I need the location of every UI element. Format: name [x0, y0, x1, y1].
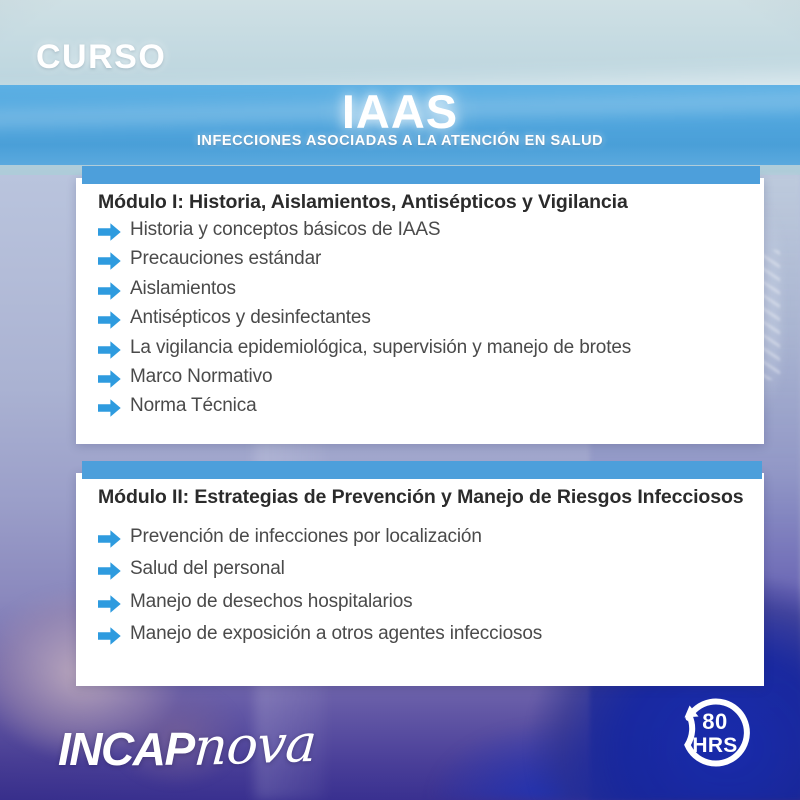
duration-badge: 80 HRS	[676, 694, 754, 772]
topic-item: La vigilancia epidemiológica, supervisió…	[98, 337, 746, 359]
arrow-right-icon	[98, 627, 121, 645]
topic-label: Manejo de desechos hospitalarios	[130, 591, 413, 613]
module-card: Módulo I: Historia, Aislamientos, Antisé…	[76, 178, 764, 444]
course-full-title: INFECCIONES ASOCIADAS A LA ATENCIÓN EN S…	[197, 133, 603, 149]
topic-label: Norma Técnica	[130, 395, 257, 417]
topic-label: Marco Normativo	[130, 366, 272, 388]
arrow-right-icon	[98, 223, 121, 241]
topic-item: Norma Técnica	[98, 395, 746, 417]
module-topic-list: Prevención de infecciones por localizaci…	[98, 526, 746, 646]
title-banner: IAAS INFECCIONES ASOCIADAS A LA ATENCIÓN…	[0, 85, 800, 165]
topic-item: Antisépticos y desinfectantes	[98, 307, 746, 329]
topic-item: Manejo de desechos hospitalarios	[98, 591, 746, 613]
topic-item: Manejo de exposición a otros agentes inf…	[98, 623, 746, 645]
topic-label: Precauciones estándar	[130, 248, 321, 270]
module-card: Módulo II: Estrategias de Prevención y M…	[76, 473, 764, 686]
course-acronym-title: IAAS	[342, 87, 458, 136]
topic-item: Precauciones estándar	[98, 248, 746, 270]
arrow-right-icon	[98, 370, 121, 388]
module-title: Módulo I: Historia, Aislamientos, Antisé…	[98, 190, 746, 215]
arrow-right-icon	[98, 595, 121, 613]
topic-label: Historia y conceptos básicos de IAAS	[130, 219, 440, 241]
topic-label: Aislamientos	[130, 278, 236, 300]
topic-label: Prevención de infecciones por localizaci…	[130, 526, 482, 548]
module-card-accent-bar	[82, 461, 762, 479]
arrow-right-icon	[98, 341, 121, 359]
module-topic-list: Historia y conceptos básicos de IAAS Pre…	[98, 219, 746, 418]
module-card-accent-bar	[82, 166, 760, 184]
brand-logo: INCAP nova	[58, 718, 313, 778]
topic-label: La vigilancia epidemiológica, supervisió…	[130, 337, 631, 359]
topic-label: Salud del personal	[130, 558, 285, 580]
course-poster: CURSO IAAS INFECCIONES ASOCIADAS A LA AT…	[0, 0, 800, 800]
arrow-right-icon	[98, 311, 121, 329]
topic-item: Marco Normativo	[98, 366, 746, 388]
arrow-right-icon	[98, 530, 121, 548]
topic-item: Historia y conceptos básicos de IAAS	[98, 219, 746, 241]
brand-name-primary: INCAP	[58, 722, 194, 776]
arrow-right-icon	[98, 282, 121, 300]
arrow-right-icon	[98, 399, 121, 417]
brand-name-secondary: nova	[192, 714, 318, 778]
arrow-right-icon	[98, 252, 121, 270]
topic-item: Salud del personal	[98, 558, 746, 580]
arrow-right-icon	[98, 562, 121, 580]
topic-label: Manejo de exposición a otros agentes inf…	[130, 623, 542, 645]
circular-arrow-icon	[676, 694, 754, 772]
eyebrow-label: CURSO	[36, 38, 166, 77]
topic-label: Antisépticos y desinfectantes	[130, 307, 371, 329]
topic-item: Aislamientos	[98, 278, 746, 300]
topic-item: Prevención de infecciones por localizaci…	[98, 526, 746, 548]
module-title: Módulo II: Estrategias de Prevención y M…	[98, 485, 746, 510]
